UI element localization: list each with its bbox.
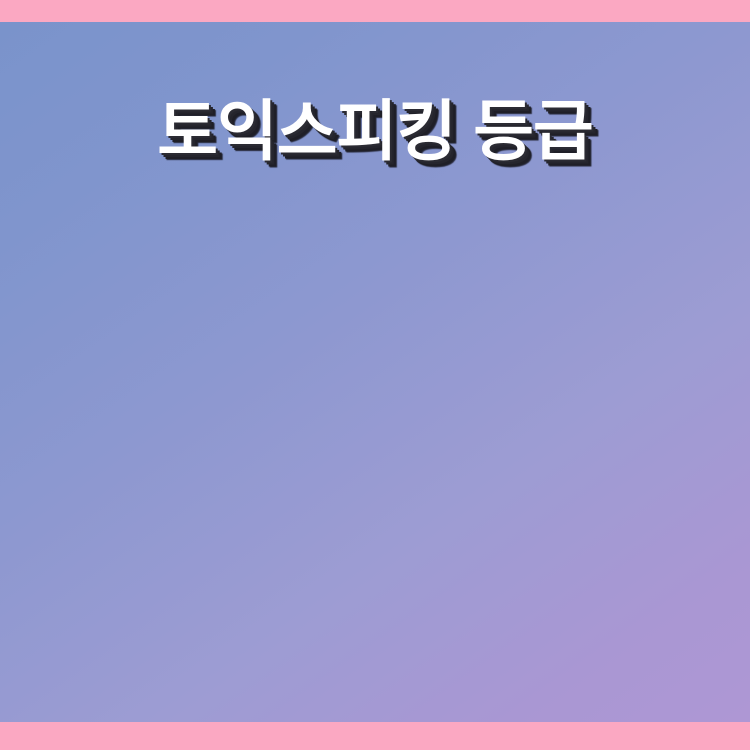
poster-canvas: 토익스피킹 등급 Advanced Low/Mid/High Intermedi…	[0, 0, 750, 750]
bottom-pink-band	[0, 722, 750, 750]
page-title: 토익스피킹 등급	[0, 92, 750, 170]
top-pink-band	[0, 0, 750, 22]
